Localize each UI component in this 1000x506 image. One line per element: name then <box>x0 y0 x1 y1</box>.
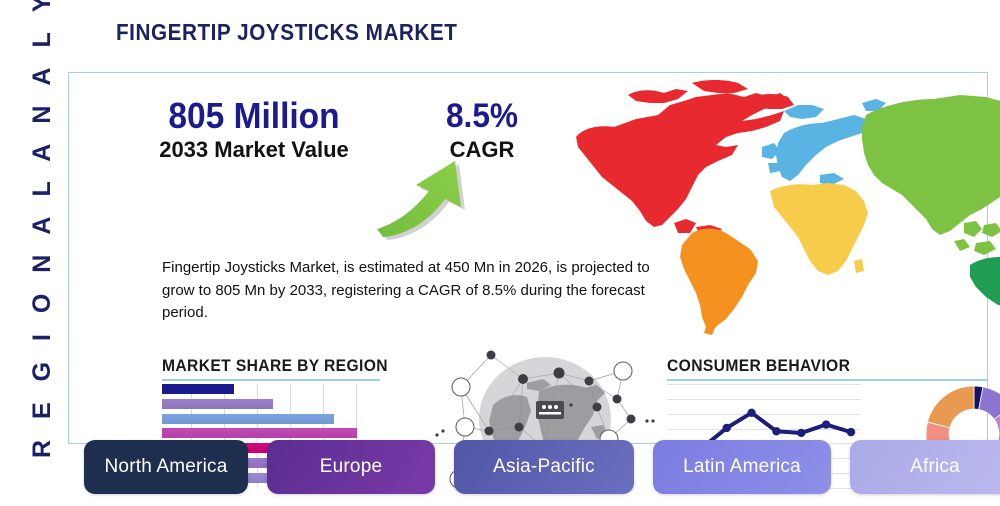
bar <box>162 384 234 394</box>
map-region-south-america <box>680 229 758 336</box>
region-button-label: Europe <box>320 456 382 478</box>
growth-arrow-icon <box>369 151 489 241</box>
region-button-europe[interactable]: Europe <box>267 440 435 494</box>
region-button-label: North America <box>105 456 228 478</box>
map-region-asia <box>862 95 1000 255</box>
bar-row <box>162 414 377 424</box>
heading-underline <box>667 379 987 381</box>
consumer-behavior-heading: CONSUMER BEHAVIOR <box>667 356 987 381</box>
bar <box>162 428 357 438</box>
kpi-market-value-number: 805 Million <box>138 95 371 137</box>
heading-underline <box>162 379 380 381</box>
bar <box>162 399 273 409</box>
line-point <box>797 429 805 437</box>
consumer-behavior-title: CONSUMER BEHAVIOR <box>667 356 961 376</box>
market-share-title: MARKET SHARE BY REGION <box>162 356 363 376</box>
market-share-heading: MARKET SHARE BY REGION <box>162 356 380 381</box>
kpi-block: 805 Million 2033 Market Value 8.5% CAGR <box>69 73 589 183</box>
region-button-label: Asia-Pacific <box>493 456 595 478</box>
donut-segment <box>928 386 974 428</box>
market-description: Fingertip Joysticks Market, is estimated… <box>162 257 677 325</box>
region-button-asia-pacific[interactable]: Asia-Pacific <box>454 440 634 494</box>
kpi-cagr-number: 8.5% <box>412 95 552 137</box>
line-point <box>747 409 755 417</box>
region-button-africa[interactable]: Africa <box>850 440 1000 494</box>
main-content-panel: 805 Million 2033 Market Value 8.5% CAGR <box>68 72 988 444</box>
region-button-row: North AmericaEuropeAsia-PacificLatin Ame… <box>84 440 992 494</box>
map-region-africa <box>770 183 868 275</box>
region-button-north-america[interactable]: North America <box>84 440 248 494</box>
region-button-label: Latin America <box>683 456 801 478</box>
donut-segment <box>979 387 1000 419</box>
bar-row <box>162 384 377 394</box>
kpi-market-value: 805 Million 2033 Market Value <box>129 95 379 164</box>
region-button-latin-america[interactable]: Latin America <box>653 440 831 494</box>
line-point <box>847 428 855 436</box>
bar-row <box>162 399 377 409</box>
bar <box>162 414 334 424</box>
bar-row <box>162 428 377 438</box>
page-title: FINGERTIP JOYSTICKS MARKET <box>116 19 457 46</box>
line-point <box>772 427 780 435</box>
line-point <box>822 420 830 428</box>
infographic-root: R E G I O N A L A N A L Y S I S FINGERTI… <box>0 0 1000 500</box>
map-region-oceania <box>970 245 1000 319</box>
map-region-north-america <box>576 80 794 237</box>
vertical-section-label: R E G I O N A L A N A L Y S I S <box>22 38 62 458</box>
kpi-market-value-label: 2033 Market Value <box>129 136 379 164</box>
line-point <box>723 424 731 432</box>
region-button-label: Africa <box>910 456 960 478</box>
